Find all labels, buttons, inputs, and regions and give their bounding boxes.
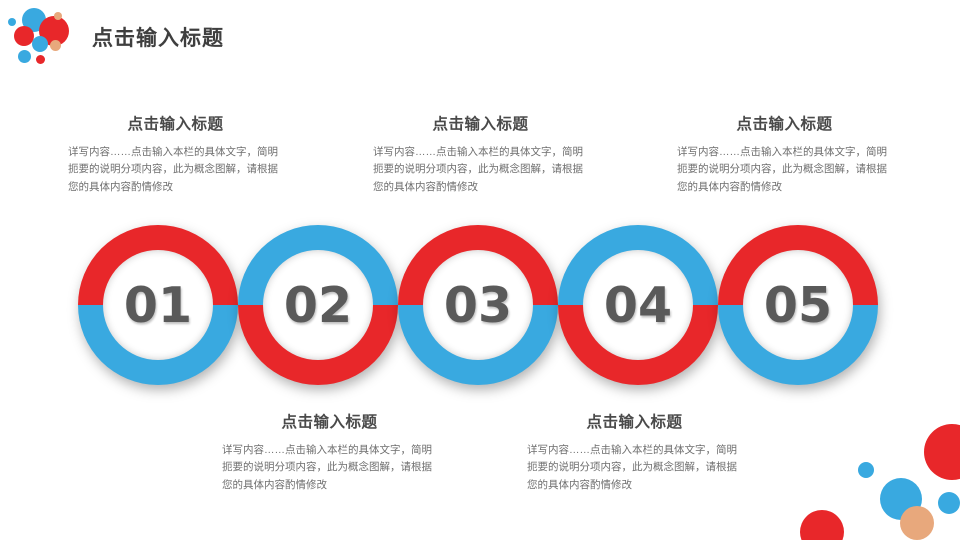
step-title-01: 点击输入标题 — [68, 112, 283, 134]
ring-number-04: 04 — [558, 225, 718, 385]
ring-number-02: 02 — [238, 225, 398, 385]
ring-step-02[interactable]: 02 — [238, 225, 398, 385]
step-text-05: 点击输入标题 详写内容……点击输入本栏的具体文字，简明扼要的说明分项内容，此为概… — [677, 112, 892, 196]
step-body-03: 详写内容……点击输入本栏的具体文字，简明扼要的说明分项内容，此为概念图解，请根据… — [373, 144, 588, 196]
step-text-03: 点击输入标题 详写内容……点击输入本栏的具体文字，简明扼要的说明分项内容，此为概… — [373, 112, 588, 196]
page-title: 点击输入标题 — [92, 22, 224, 52]
slide-header: 点击输入标题 — [0, 0, 960, 80]
ring-number-01: 01 — [78, 225, 238, 385]
step-body-05: 详写内容……点击输入本栏的具体文字，简明扼要的说明分项内容，此为概念图解，请根据… — [677, 144, 892, 196]
ring-step-03[interactable]: 03 — [398, 225, 558, 385]
step-title-03: 点击输入标题 — [373, 112, 588, 134]
ring-step-01[interactable]: 01 — [78, 225, 238, 385]
step-text-04: 点击输入标题 详写内容……点击输入本栏的具体文字，简明扼要的说明分项内容，此为概… — [527, 410, 742, 494]
step-body-01: 详写内容……点击输入本栏的具体文字，简明扼要的说明分项内容，此为概念图解，请根据… — [68, 144, 283, 196]
step-text-02: 点击输入标题 详写内容……点击输入本栏的具体文字，简明扼要的说明分项内容，此为概… — [222, 410, 437, 494]
slide: 点击输入标题 点击输入标题 详写内容……点击输入本栏的具体文字，简明扼要的说明分… — [0, 0, 960, 540]
step-text-01: 点击输入标题 详写内容……点击输入本栏的具体文字，简明扼要的说明分项内容，此为概… — [68, 112, 283, 196]
ring-row: 01 02 03 04 05 — [0, 225, 960, 395]
ring-number-03: 03 — [398, 225, 558, 385]
ring-number-05: 05 — [718, 225, 878, 385]
step-body-04: 详写内容……点击输入本栏的具体文字，简明扼要的说明分项内容，此为概念图解，请根据… — [527, 442, 742, 494]
step-title-02: 点击输入标题 — [222, 410, 437, 432]
logo-dots-icon — [8, 6, 78, 72]
ring-step-04[interactable]: 04 — [558, 225, 718, 385]
ring-step-05[interactable]: 05 — [718, 225, 878, 385]
step-title-05: 点击输入标题 — [677, 112, 892, 134]
step-title-04: 点击输入标题 — [527, 410, 742, 432]
step-body-02: 详写内容……点击输入本栏的具体文字，简明扼要的说明分项内容，此为概念图解，请根据… — [222, 442, 437, 494]
